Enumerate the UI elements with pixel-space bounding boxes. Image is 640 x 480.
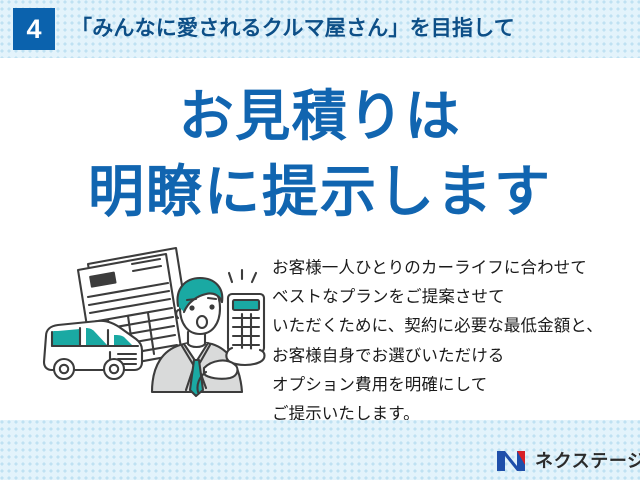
body-copy-line-3: いただくために、契約に必要な最低金額と、 [272,312,640,341]
headline-line-2: 明瞭に提示します [0,154,640,229]
main-content: お見積りは 明瞭に提示します お客様一人ひとりのカーライフに合わせて ベストなプ… [0,58,640,420]
body-copy-line-5: オプション費用を明確にして [272,371,640,400]
headline: お見積りは 明瞭に提示します [0,80,640,229]
body-copy-line-4: お客様自身でお選びいただける [272,342,640,371]
body-copy-line-2: ベストなプランをご提案させて [272,283,640,312]
headline-line-1: お見積りは [0,80,640,154]
step-number-badge: 4 [13,8,55,50]
brand-logo: ネクステージ [497,447,640,474]
body-copy: お客様一人ひとりのカーライフに合わせて ベストなプランをご提案させて いただくた… [272,254,640,429]
header: 4 「みんなに愛されるクルマ屋さん」を目指して [0,0,640,58]
calculator-icon [226,270,264,365]
nexstage-n-mark-icon [497,449,527,473]
illustration-svg [36,240,274,412]
salesman-estimate-illustration [36,240,274,412]
promo-panel: 4 「みんなに愛されるクルマ屋さん」を目指して お見積りは 明瞭に提示します お… [0,0,640,480]
brand-name: ネクステージ [535,452,640,470]
body-copy-line-1: お客様一人ひとりのカーライフに合わせて [272,254,640,283]
header-title: 「みんなに愛されるクルマ屋さん」を目指して [71,17,515,40]
